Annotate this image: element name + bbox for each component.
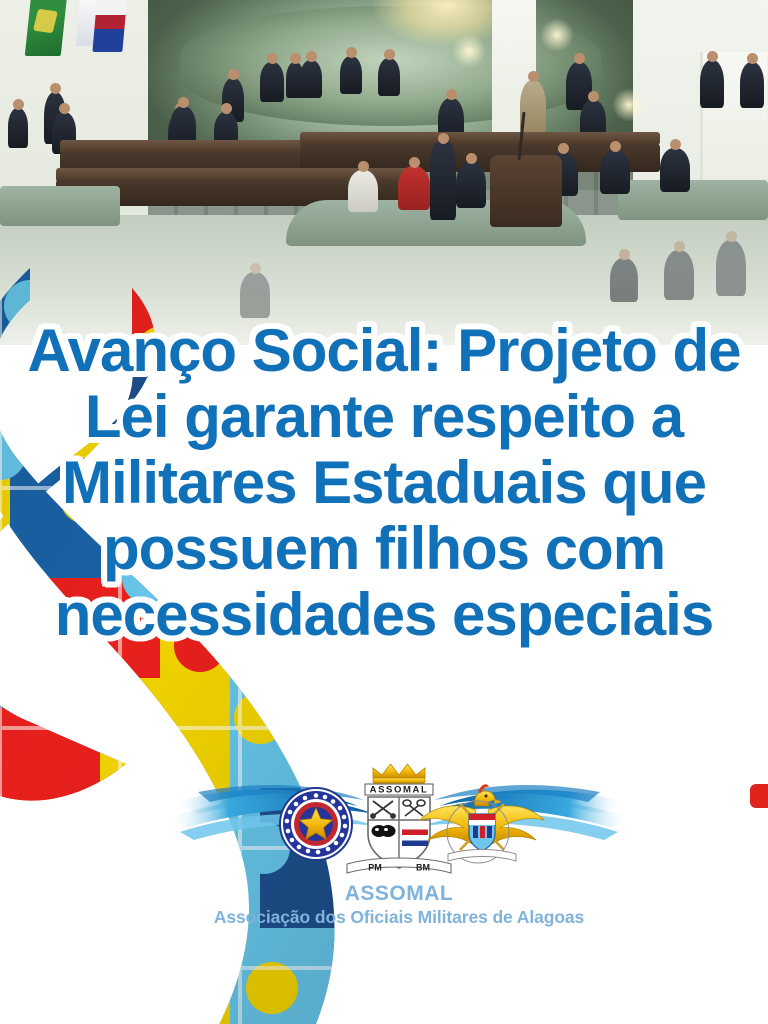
person (348, 170, 378, 212)
person (286, 62, 304, 98)
shield-name-ribbon: ASSOMAL (365, 784, 433, 796)
person (664, 250, 694, 300)
photo-background (0, 0, 768, 345)
alagoas-bands-quarter (402, 824, 428, 846)
brazil-flag (25, 0, 68, 56)
pm-bm-scroll: PM BM (347, 858, 451, 873)
person (740, 62, 764, 108)
header-photo (0, 0, 768, 345)
person (660, 148, 690, 192)
assomal-emblems: ASSOMAL (168, 762, 630, 892)
person (610, 258, 638, 302)
person (700, 60, 724, 108)
person (340, 56, 362, 94)
person-speaker (430, 142, 456, 220)
assomal-logo: ASSOMAL (168, 762, 630, 937)
alagoas-flag (92, 0, 127, 52)
headline-line-3: Militares Estaduais que (0, 450, 768, 516)
person (398, 166, 430, 210)
scroll-label-pm: PM (368, 863, 382, 873)
assomal-fullname: Associação dos Oficiais Militares de Ala… (168, 906, 630, 928)
headline-line-1: Avanço Social: Projeto de (0, 318, 768, 384)
wall-sconce-3 (612, 88, 646, 122)
masks-quarter (370, 824, 396, 840)
pm-star-badge (280, 788, 352, 860)
headline-line-5: necessidades especiais (0, 582, 768, 648)
poster-canvas: Avanço Social: Projeto de Lei garante re… (0, 0, 768, 1024)
headline-line-2: Lei garante respeito a (0, 384, 768, 450)
person (716, 240, 746, 296)
person (456, 162, 486, 208)
person (8, 108, 28, 148)
headline-line-4: possuem filhos com (0, 516, 768, 582)
person (600, 150, 630, 194)
svg-text:ASSOMAL: ASSOMAL (370, 785, 429, 796)
eagle-shield (469, 814, 495, 851)
person (378, 58, 400, 96)
red-accent-shape (750, 784, 768, 808)
person (260, 62, 284, 102)
headline: Avanço Social: Projeto de Lei garante re… (0, 318, 768, 648)
wall-sconce-2 (540, 18, 574, 52)
assomal-acronym: ASSOMAL (168, 882, 630, 906)
tribune-podium (490, 155, 562, 227)
assomal-logo-text: ASSOMAL Associação dos Oficiais Militare… (168, 882, 630, 928)
person (240, 272, 270, 318)
scroll-label-bm: BM (416, 863, 430, 873)
side-desk-left (0, 186, 120, 226)
crown-icon (373, 764, 425, 783)
eagle-ribbon (448, 850, 516, 862)
wall-sconce-1 (452, 34, 486, 68)
side-desk-right (618, 180, 768, 220)
